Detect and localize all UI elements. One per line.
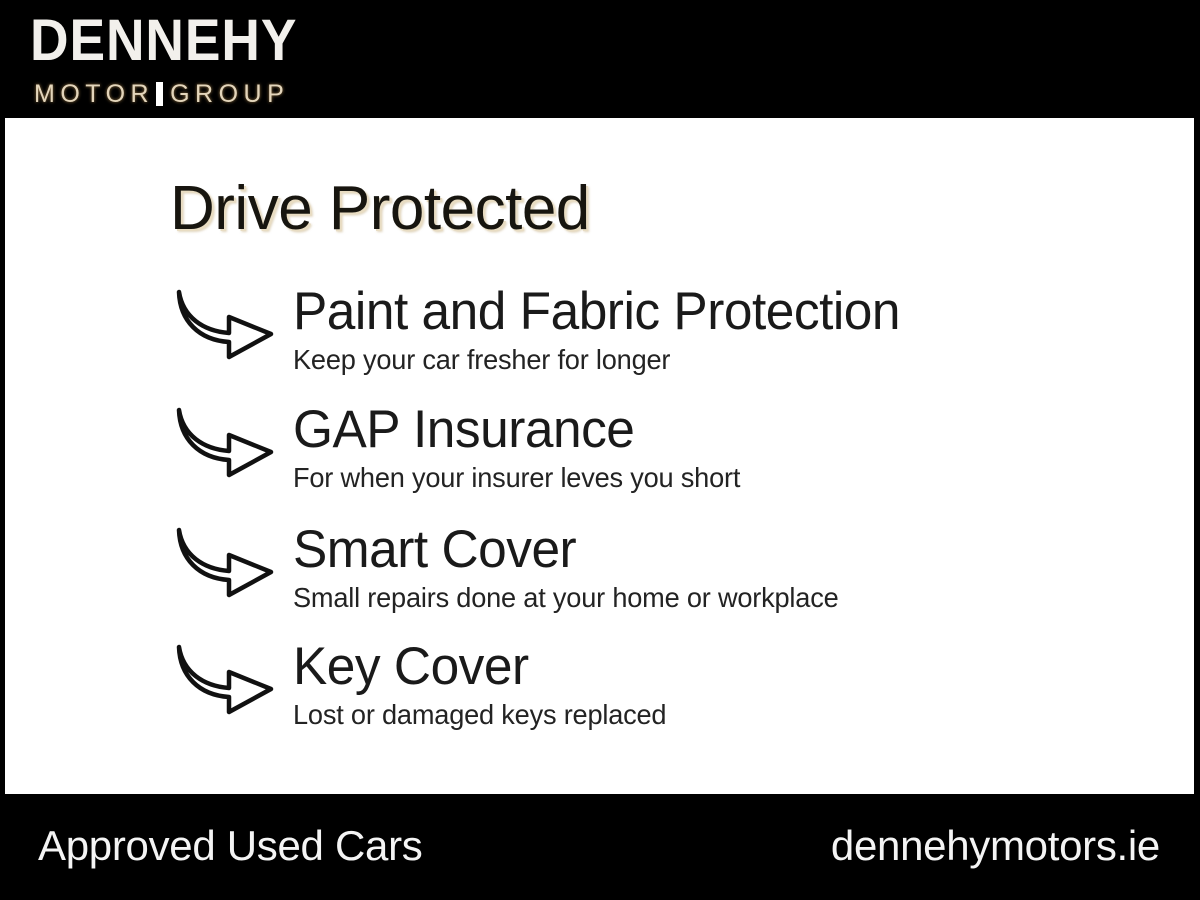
feature-text-group: Paint and Fabric Protection Keep your ca… <box>293 283 919 377</box>
feature-text-group: Key Cover Lost or damaged keys replaced <box>293 638 678 732</box>
footer-website[interactable]: dennehymotors.ie <box>831 820 1160 872</box>
vertical-bar-icon <box>156 82 163 106</box>
feature-title: Key Cover <box>293 638 666 696</box>
header-bar: DENNEHY MOTORGROUP <box>0 0 1200 118</box>
footer-bar: Approved Used Cars dennehymotors.ie <box>0 794 1200 900</box>
page-title: Drive Protected <box>170 173 590 245</box>
feature-text-group: Smart Cover Small repairs done at your h… <box>293 521 855 615</box>
content-panel: Drive Protected Paint and Fabric Protect… <box>5 118 1197 794</box>
footer-tagline: Approved Used Cars <box>38 820 422 872</box>
feature-title: Paint and Fabric Protection <box>293 283 900 341</box>
feature-subtitle: Small repairs done at your home or workp… <box>293 581 838 615</box>
curved-arrow-right-icon <box>173 405 277 479</box>
brand-subwordmark: MOTORGROUP <box>34 80 289 108</box>
feature-subtitle: Lost or damaged keys replaced <box>293 698 666 732</box>
curved-arrow-right-icon <box>173 287 277 361</box>
curved-arrow-right-icon <box>173 525 277 599</box>
curved-arrow-right-icon <box>173 642 277 716</box>
brand-wordmark: DENNEHY <box>30 10 297 72</box>
feature-subtitle: For when your insurer leves you short <box>293 461 740 495</box>
feature-subtitle: Keep your car fresher for longer <box>293 343 900 377</box>
brand-sub-right: GROUP <box>170 80 289 108</box>
feature-title: GAP Insurance <box>293 401 740 459</box>
feature-title: Smart Cover <box>293 521 838 579</box>
brand-logo[interactable]: DENNEHY MOTORGROUP <box>30 10 330 110</box>
feature-text-group: GAP Insurance For when your insurer leve… <box>293 401 754 495</box>
advert-banner: DENNEHY MOTORGROUP Drive Protected Paint… <box>0 0 1200 900</box>
brand-sub-left: MOTOR <box>34 80 154 108</box>
